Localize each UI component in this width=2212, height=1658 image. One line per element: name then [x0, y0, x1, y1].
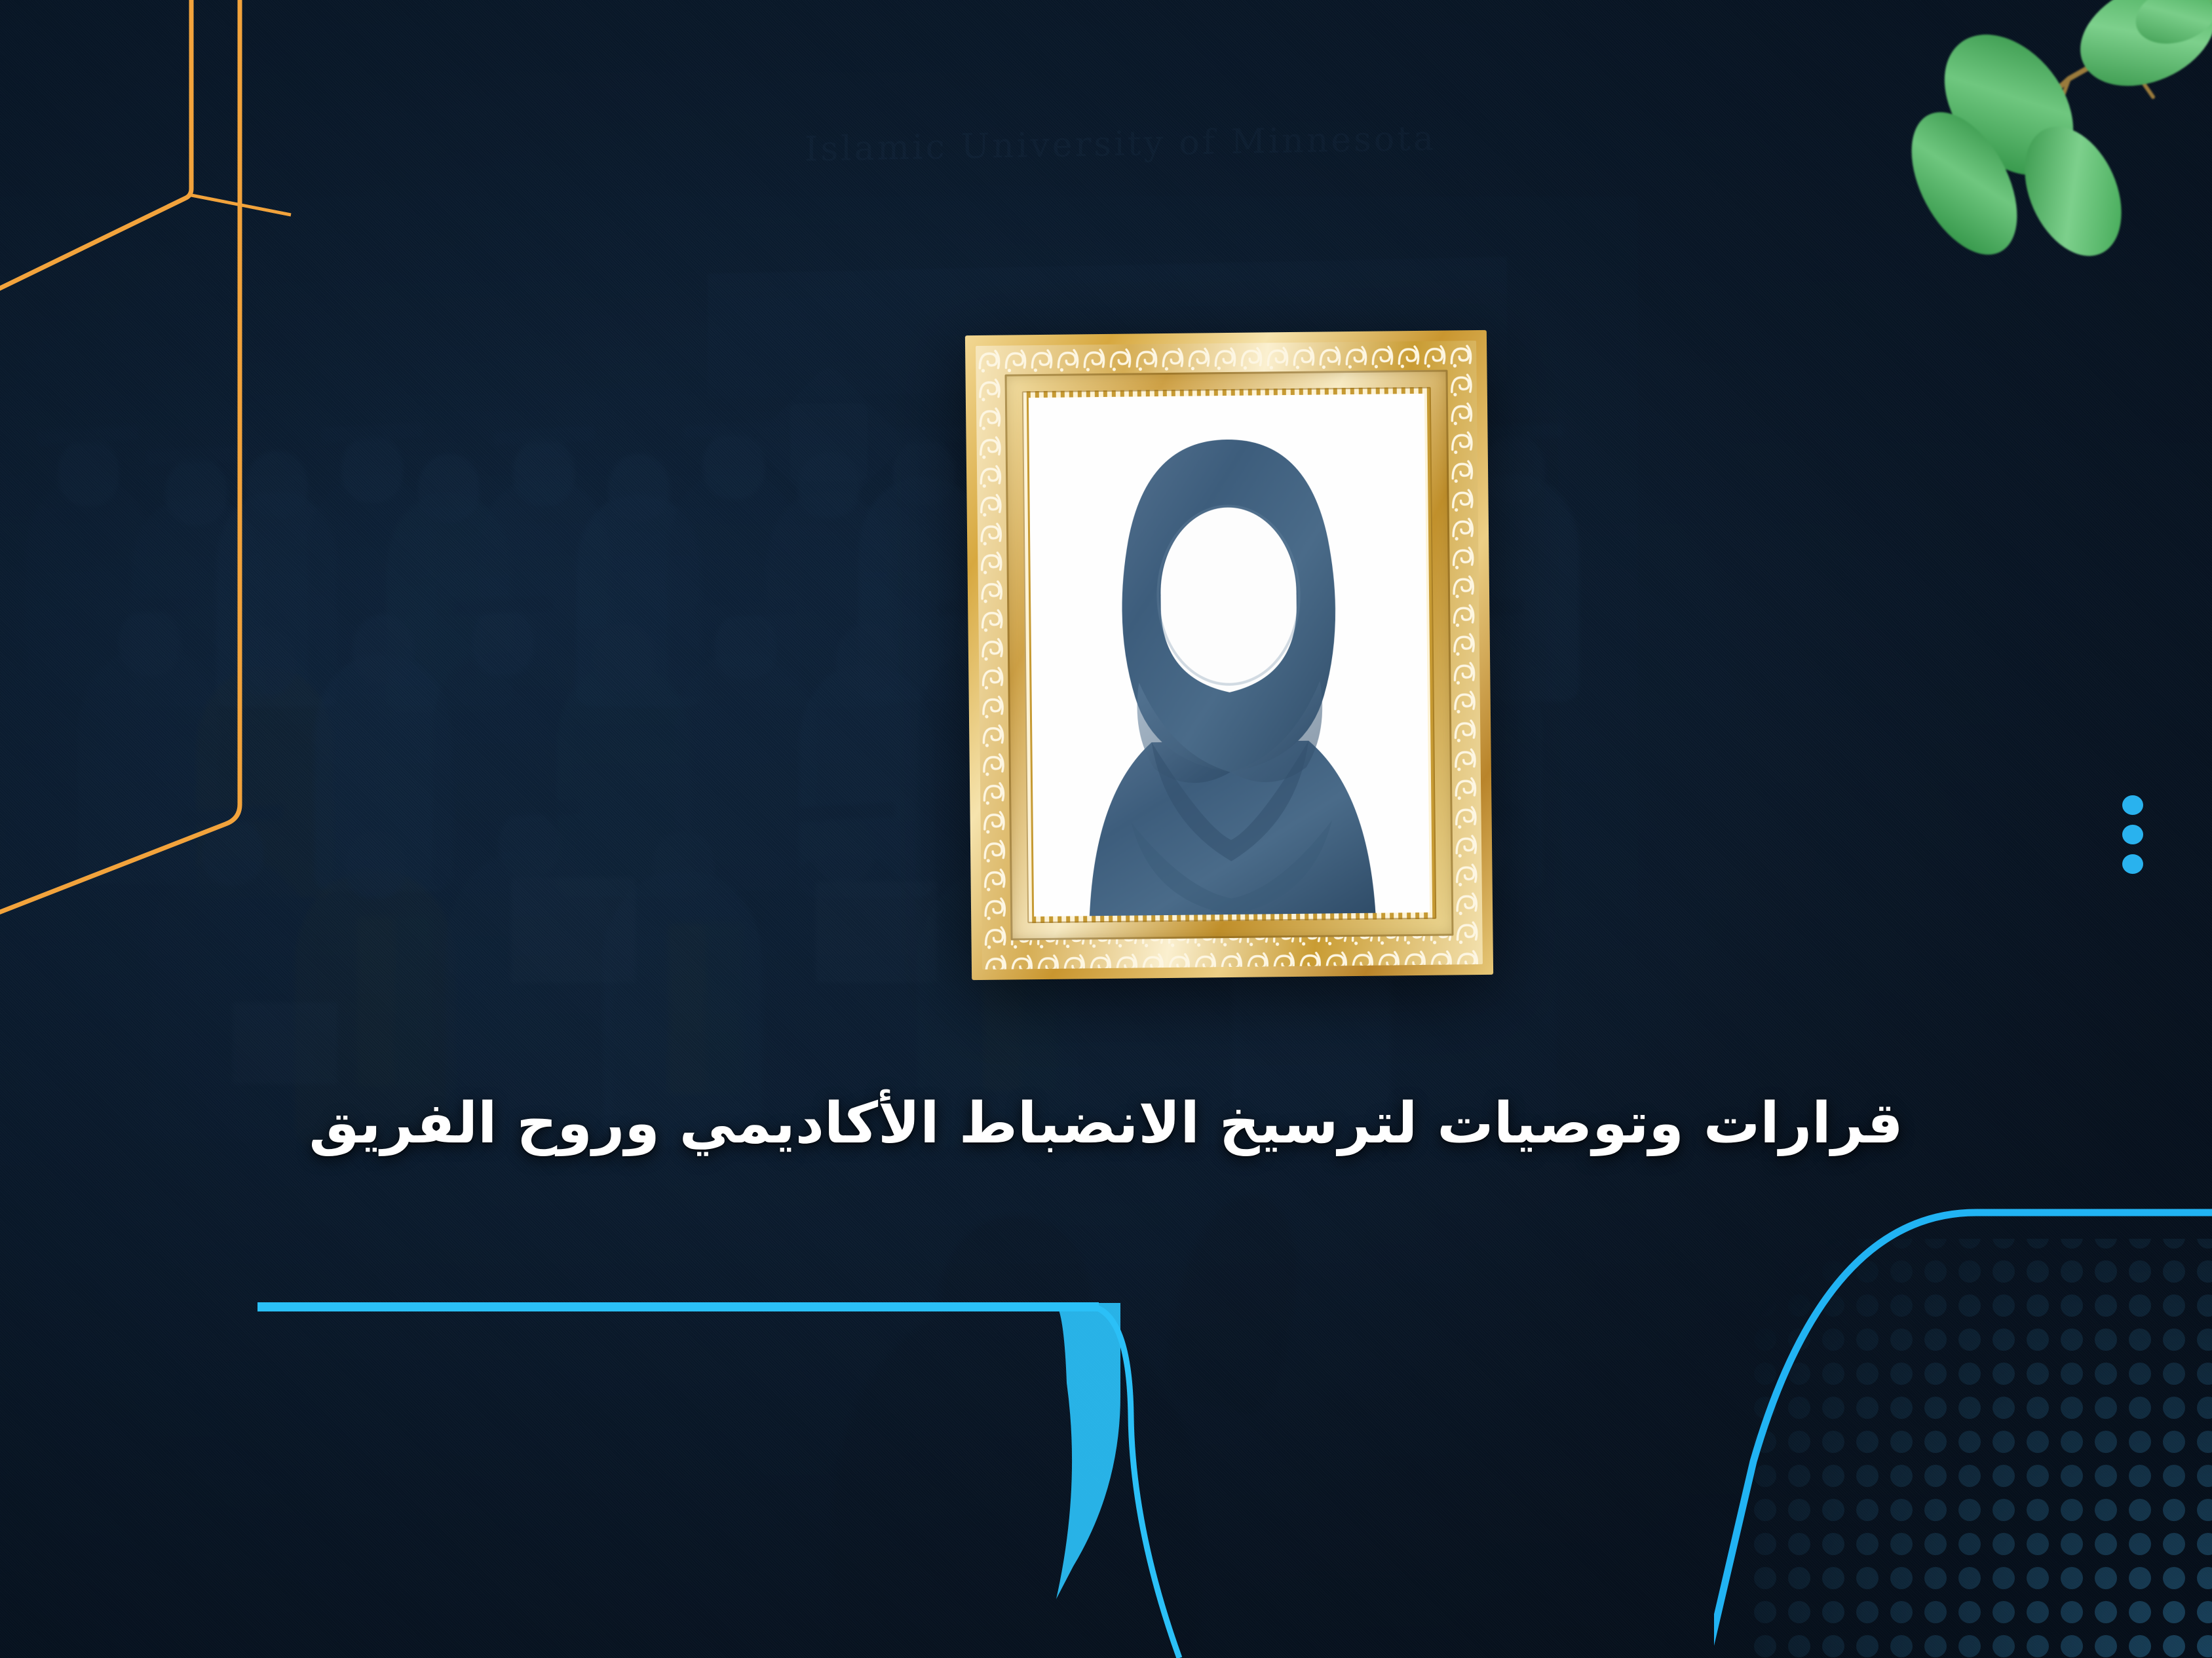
dot-1 [2122, 795, 2143, 815]
more-options-icon[interactable] [2120, 795, 2145, 874]
framed-portrait[interactable] [965, 330, 1493, 980]
dot-3 [2122, 854, 2143, 874]
dot-2 [2122, 825, 2143, 844]
page-headline: قرارات وتوصيات لترسيخ الانضباط الأكاديمي… [0, 1089, 2212, 1159]
news-card-canvas: Islamic University of Minnesota [0, 0, 2212, 1658]
portrait-photo [1029, 394, 1430, 916]
